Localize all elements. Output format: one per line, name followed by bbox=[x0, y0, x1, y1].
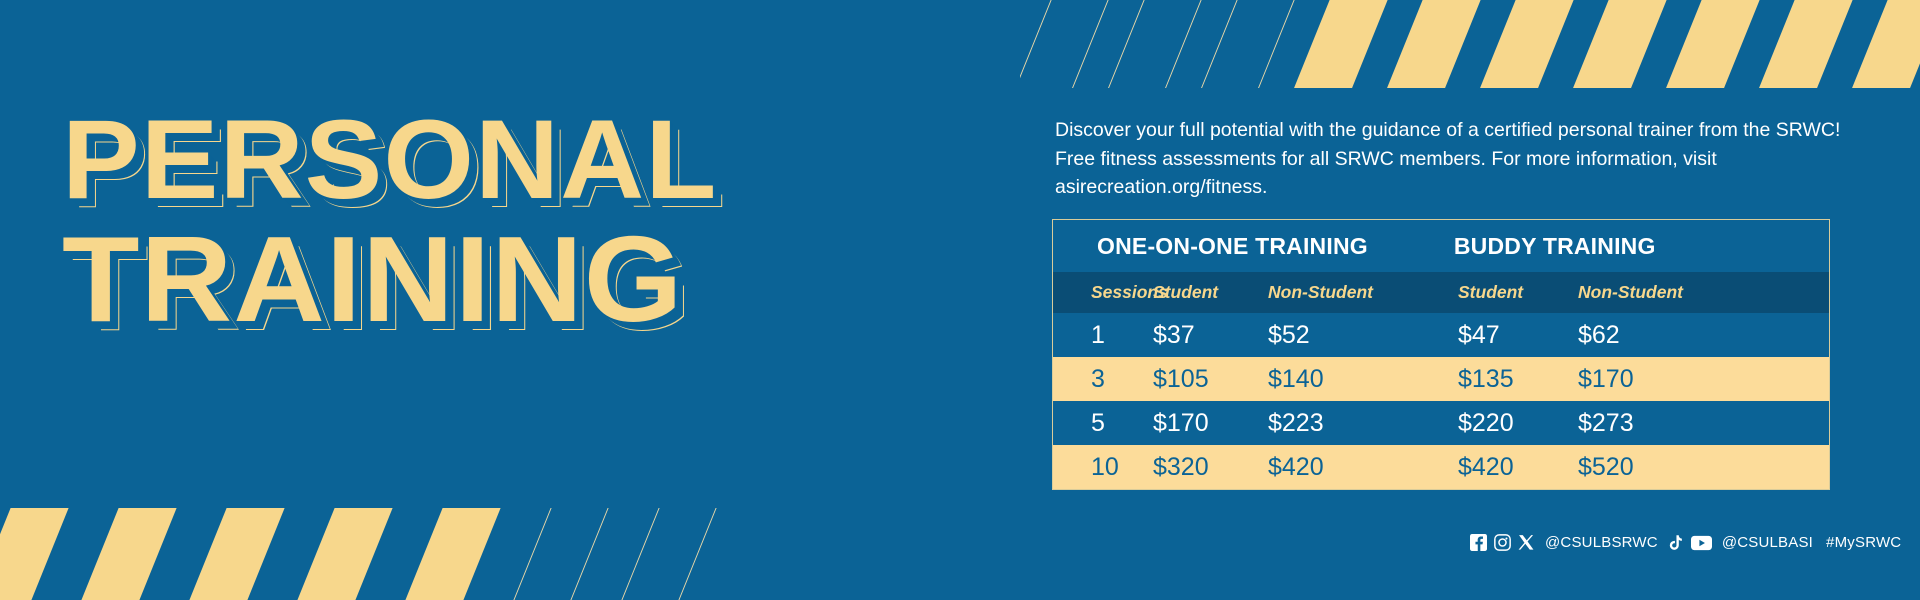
column-header-one-student: Student bbox=[1153, 282, 1268, 303]
cell-one-nonstudent: $140 bbox=[1268, 365, 1458, 394]
social-hashtag: #MySRWC bbox=[1826, 534, 1901, 551]
group-header-buddy: BUDDY TRAINING bbox=[1454, 233, 1656, 260]
youtube-icon[interactable] bbox=[1691, 535, 1712, 551]
headline-line-training: TRAINING bbox=[62, 223, 884, 335]
column-header-buddy-nonstudent: Non-Student bbox=[1578, 282, 1758, 303]
decorative-stripes-top bbox=[1020, 0, 1920, 88]
decorative-stripes-bottom bbox=[0, 508, 780, 600]
headline-line-personal: PERSONAL bbox=[62, 108, 884, 211]
stripe-solid bbox=[72, 508, 183, 600]
table-column-header-row: Sessions Student Non-Student Student Non… bbox=[1053, 272, 1829, 313]
pricing-table: ONE-ON-ONE TRAINING BUDDY TRAINING Sessi… bbox=[1052, 219, 1830, 490]
cell-buddy-nonstudent: $520 bbox=[1578, 453, 1758, 482]
stripe-solid bbox=[396, 508, 507, 600]
group-header-one-on-one: ONE-ON-ONE TRAINING bbox=[1097, 233, 1368, 260]
stripe-solid bbox=[0, 508, 74, 600]
instagram-icon[interactable] bbox=[1494, 534, 1511, 551]
cell-one-nonstudent: $420 bbox=[1268, 453, 1458, 482]
cell-sessions: 1 bbox=[1053, 321, 1153, 350]
column-header-sessions: Sessions bbox=[1053, 282, 1153, 303]
page-title: PERSONAL TRAINING bbox=[62, 108, 852, 335]
cell-buddy-student: $220 bbox=[1458, 409, 1578, 438]
stripe-solid bbox=[1841, 0, 1920, 88]
tiktok-icon[interactable] bbox=[1668, 534, 1684, 551]
cell-one-student: $170 bbox=[1153, 409, 1268, 438]
cell-buddy-student: $135 bbox=[1458, 365, 1578, 394]
table-row: 10 $320 $420 $420 $520 bbox=[1053, 445, 1829, 489]
cell-one-nonstudent: $223 bbox=[1268, 409, 1458, 438]
table-group-header-row: ONE-ON-ONE TRAINING BUDDY TRAINING bbox=[1053, 220, 1829, 272]
stripe-hollow bbox=[1020, 0, 1114, 88]
stripe-solid bbox=[1283, 0, 1394, 88]
stripe-solid bbox=[180, 508, 291, 600]
cell-buddy-nonstudent: $170 bbox=[1578, 365, 1758, 394]
stripe-solid bbox=[288, 508, 399, 600]
stripe-hollow bbox=[1097, 0, 1208, 88]
intro-paragraph: Discover your full potential with the gu… bbox=[1055, 116, 1845, 202]
cell-buddy-nonstudent: $273 bbox=[1578, 409, 1758, 438]
cell-buddy-student: $420 bbox=[1458, 453, 1578, 482]
stripe-solid bbox=[1655, 0, 1766, 88]
stripe-solid bbox=[1562, 0, 1673, 88]
cell-one-student: $320 bbox=[1153, 453, 1268, 482]
table-row: 5 $170 $223 $220 $273 bbox=[1053, 401, 1829, 445]
x-twitter-icon[interactable] bbox=[1518, 534, 1535, 551]
stripe-solid bbox=[1376, 0, 1487, 88]
social-handle-secondary: @CSULBASI bbox=[1722, 534, 1813, 551]
stripe-hollow bbox=[1190, 0, 1301, 88]
stripe-hollow bbox=[612, 508, 723, 600]
cell-one-nonstudent: $52 bbox=[1268, 321, 1458, 350]
cell-buddy-student: $47 bbox=[1458, 321, 1578, 350]
cell-buddy-nonstudent: $62 bbox=[1578, 321, 1758, 350]
column-header-buddy-student: Student bbox=[1458, 282, 1578, 303]
column-header-one-nonstudent: Non-Student bbox=[1268, 282, 1458, 303]
social-handle-primary: @CSULBSRWC bbox=[1545, 534, 1658, 551]
stripe-solid bbox=[1469, 0, 1580, 88]
cell-sessions: 5 bbox=[1053, 409, 1153, 438]
stripe-hollow bbox=[504, 508, 615, 600]
social-footer: @CSULBSRWC @CSULBASI #MySRWC bbox=[1470, 534, 1904, 551]
cell-one-student: $37 bbox=[1153, 321, 1268, 350]
table-row: 3 $105 $140 $135 $170 bbox=[1053, 357, 1829, 401]
facebook-icon[interactable] bbox=[1470, 534, 1487, 551]
cell-sessions: 10 bbox=[1053, 453, 1153, 482]
cell-one-student: $105 bbox=[1153, 365, 1268, 394]
stripe-solid bbox=[1748, 0, 1859, 88]
table-row: 1 $37 $52 $47 $62 bbox=[1053, 313, 1829, 357]
cell-sessions: 3 bbox=[1053, 365, 1153, 394]
